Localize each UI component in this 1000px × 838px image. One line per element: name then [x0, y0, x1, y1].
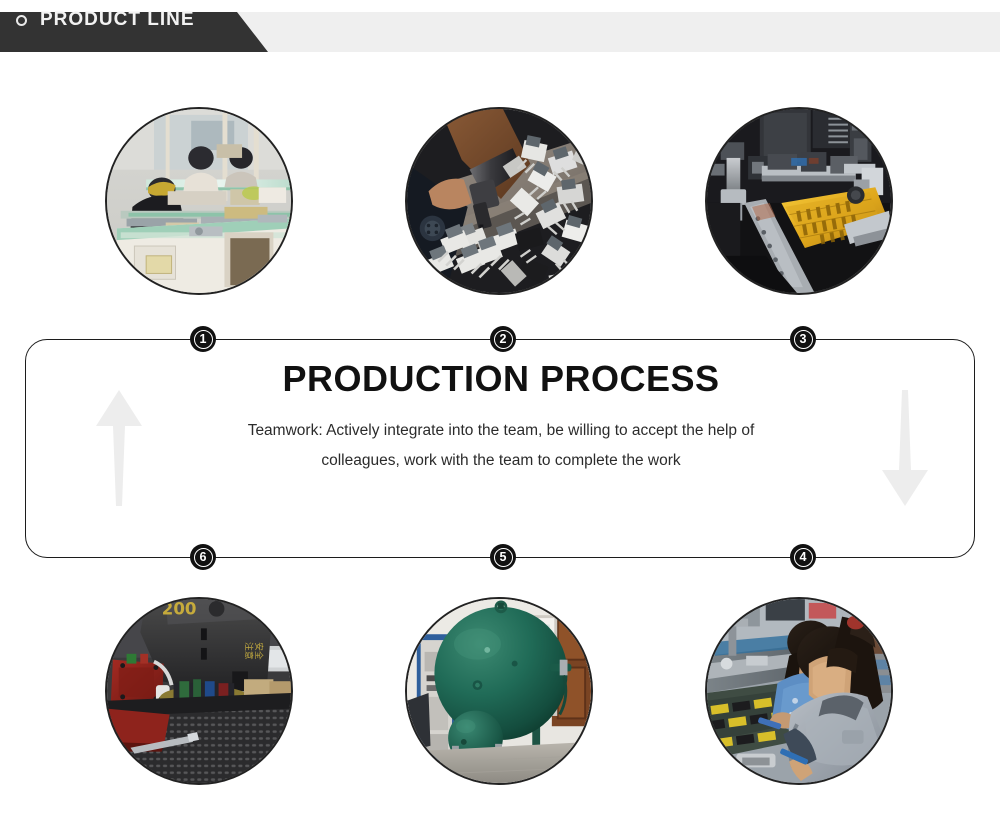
pcb-machine-photo — [705, 107, 893, 295]
badge-ring: 6 — [194, 548, 213, 567]
worker-assembly-photo — [705, 597, 893, 785]
circle-bullet-icon — [16, 15, 27, 26]
header-tab-content: PRODUCT LINE — [0, 0, 270, 40]
badge-ring: 1 — [194, 330, 213, 349]
step-number: 2 — [500, 333, 507, 346]
svg-text:安全: 安全 — [253, 642, 265, 660]
badge-ring: 5 — [494, 548, 513, 567]
step-badge-2[interactable]: 2 — [490, 326, 516, 352]
page-header: PRODUCT LINE — [0, 0, 1000, 60]
step-number: 3 — [800, 333, 807, 346]
assembly-workstation-photo — [105, 107, 293, 295]
step-number: 5 — [500, 551, 507, 564]
arrow-up-icon — [92, 388, 146, 508]
arrow-down-icon — [878, 388, 932, 508]
step-number: 1 — [200, 333, 207, 346]
svg-text:200: 200 — [162, 600, 197, 619]
process-text-block: PRODUCTION PROCESS Teamwork: Actively in… — [196, 358, 806, 476]
step-badge-3[interactable]: 3 — [790, 326, 816, 352]
cnc-punch-press-photo: 200 注意 安全 — [105, 597, 293, 785]
step-badge-5[interactable]: 5 — [490, 544, 516, 570]
drilling-components-photo — [405, 107, 593, 295]
step-badge-4[interactable]: 4 — [790, 544, 816, 570]
integrating-sphere-photo — [405, 597, 593, 785]
production-process-box: PRODUCTION PROCESS Teamwork: Actively in… — [25, 339, 975, 558]
badge-ring: 3 — [794, 330, 813, 349]
badge-ring: 2 — [494, 330, 513, 349]
step-number: 4 — [800, 551, 807, 564]
page-title: PRODUCT LINE — [40, 9, 195, 31]
step-badge-6[interactable]: 6 — [190, 544, 216, 570]
step-number: 6 — [200, 551, 207, 564]
step-badge-1[interactable]: 1 — [190, 326, 216, 352]
process-description: Teamwork: Actively integrate into the te… — [196, 416, 806, 476]
badge-ring: 4 — [794, 548, 813, 567]
process-title: PRODUCTION PROCESS — [196, 358, 806, 400]
